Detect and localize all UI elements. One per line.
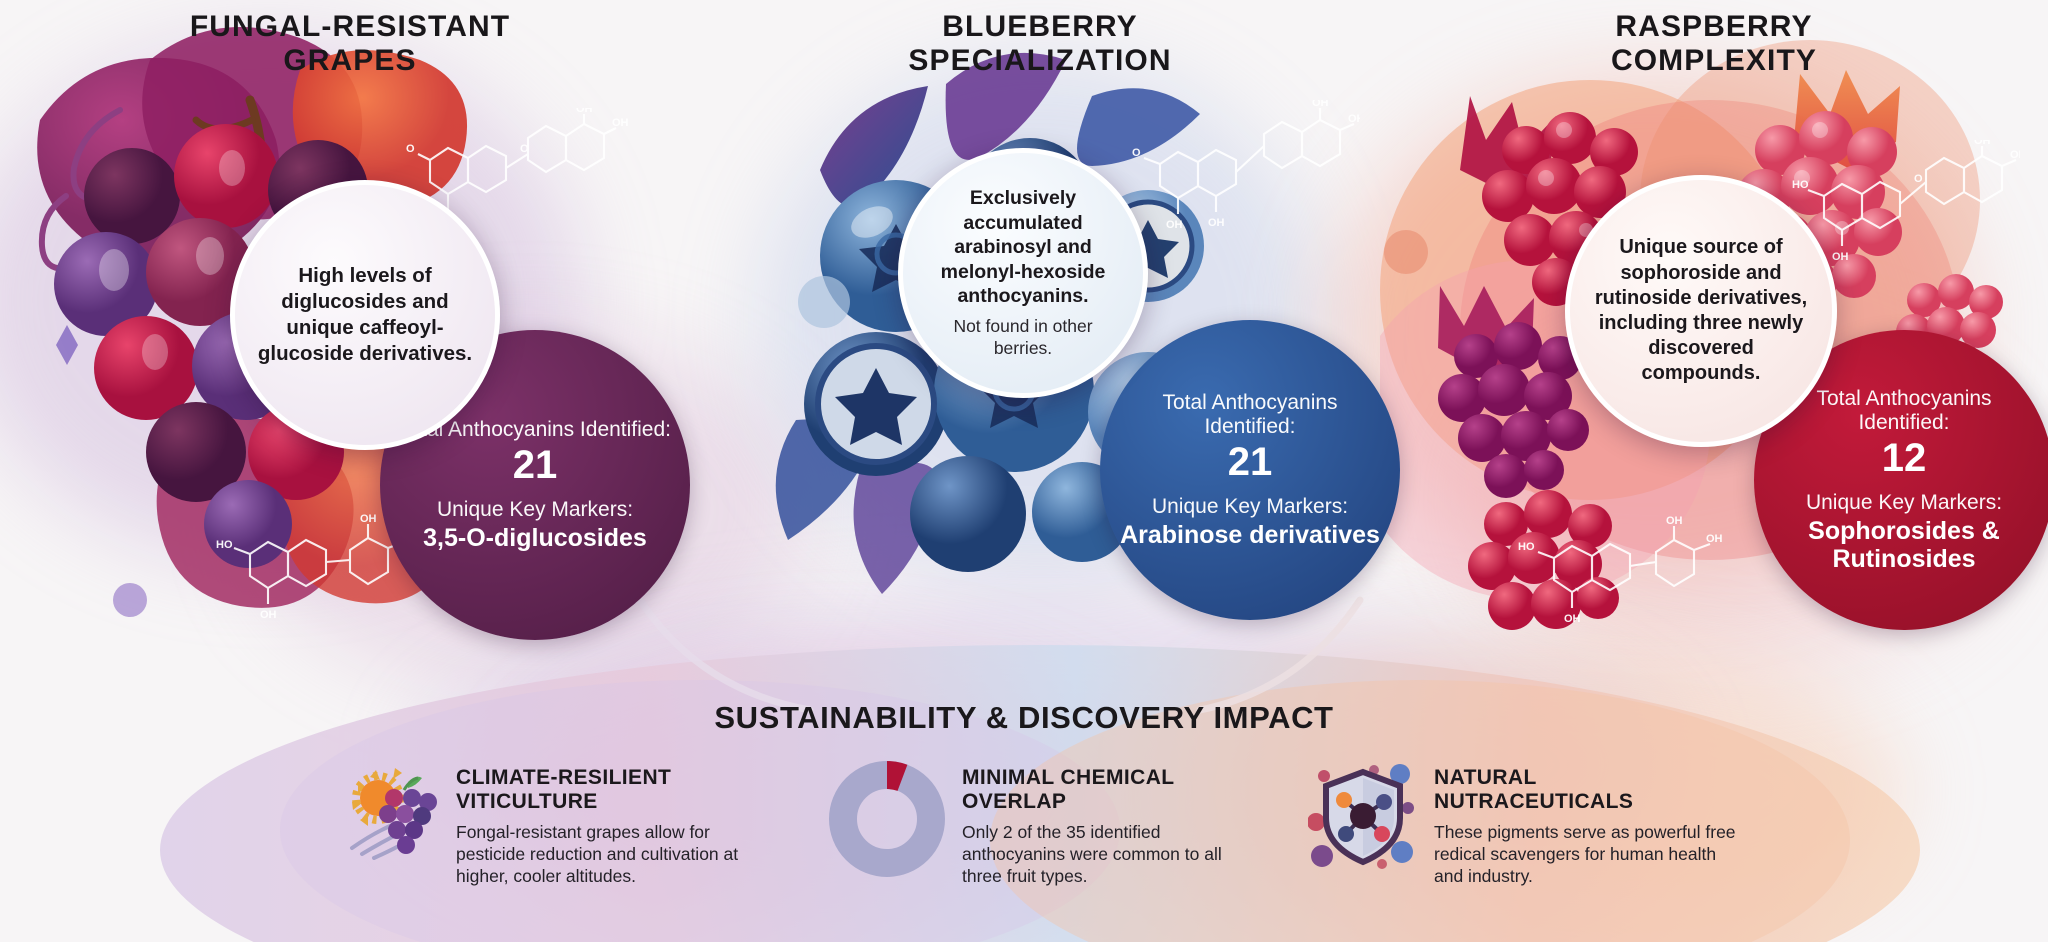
impact-body: Only 2 of the 35 identified anthocyanins… bbox=[962, 821, 1248, 888]
svg-text:OH: OH bbox=[1208, 217, 1225, 229]
impact-item-minimal-chemical-overlap: MINIMAL CHEMICAL OVERLAP Only 2 of the 3… bbox=[828, 760, 1248, 888]
statement-main: Exclusively accumulated arabinosyl and m… bbox=[925, 186, 1121, 309]
impact-heading: NATURAL NUTRACEUTICALS bbox=[1434, 766, 1748, 814]
stat-value: 12 bbox=[1882, 437, 1927, 479]
svg-text:OH: OH bbox=[1706, 533, 1723, 545]
impact-item-natural-nutraceuticals: NATURAL NUTRACEUTICALS These pigments se… bbox=[1308, 760, 1748, 888]
donut-chart-icon bbox=[828, 760, 946, 878]
svg-text:O: O bbox=[1132, 147, 1141, 159]
panel-title-line1: BLUEBERRY bbox=[942, 10, 1137, 43]
svg-text:OH: OH bbox=[1666, 515, 1683, 527]
stat-value: 21 bbox=[1228, 441, 1273, 483]
svg-text:O: O bbox=[406, 143, 415, 155]
svg-text:OH: OH bbox=[1312, 100, 1329, 109]
impact-heading: MINIMAL CHEMICAL OVERLAP bbox=[962, 766, 1248, 814]
impact-list: CLIMATE-RESILIENT VITICULTURE Fongal-res… bbox=[0, 760, 2048, 940]
stat-markers-label: Unique Key Markers: bbox=[437, 498, 633, 522]
impact-heading-line2: NUTRACEUTICALS bbox=[1434, 790, 1633, 813]
svg-text:O: O bbox=[520, 143, 529, 155]
impact-text: NATURAL NUTRACEUTICALS These pigments se… bbox=[1434, 760, 1748, 888]
panel-title-raspberry: RASPBERRY COMPLEXITY bbox=[1380, 10, 2048, 77]
impact-body: Fongal-resistant grapes allow for pestic… bbox=[456, 821, 770, 888]
stat-markers-label: Unique Key Markers: bbox=[1152, 495, 1348, 519]
stat-label: Total Anthocyanins Identified: bbox=[1118, 391, 1382, 440]
impact-heading: CLIMATE-RESILIENT VITICULTURE bbox=[456, 766, 770, 814]
svg-text:OH: OH bbox=[360, 513, 377, 525]
overlap-donut-chart bbox=[828, 760, 946, 878]
statement-main: Unique source of sophoroside and rutinos… bbox=[1592, 235, 1810, 386]
stat-markers-value: Arabinose derivatives bbox=[1120, 521, 1380, 549]
statement-circle-grapes: High levels of diglucosides and unique c… bbox=[230, 180, 500, 450]
svg-text:OH: OH bbox=[1166, 219, 1183, 231]
svg-text:OH: OH bbox=[1348, 113, 1360, 125]
svg-text:OH: OH bbox=[1564, 613, 1581, 625]
stat-markers-label: Unique Key Markers: bbox=[1806, 491, 2002, 515]
svg-text:OH: OH bbox=[260, 609, 277, 621]
sun-grapes-icon bbox=[340, 760, 440, 860]
svg-text:HO: HO bbox=[216, 539, 233, 551]
impact-item-climate-resilient-viticulture: CLIMATE-RESILIENT VITICULTURE Fongal-res… bbox=[340, 760, 770, 888]
panel-title-line1: FUNGAL-RESISTANT bbox=[190, 10, 510, 43]
svg-text:O: O bbox=[1914, 173, 1923, 185]
band-title: SUSTAINABILITY & DISCOVERY IMPACT bbox=[0, 700, 2048, 736]
stat-value: 21 bbox=[513, 444, 558, 486]
shield-molecule-icon bbox=[1308, 760, 1418, 870]
impact-heading-line1: MINIMAL CHEMICAL bbox=[962, 766, 1175, 789]
impact-text: CLIMATE-RESILIENT VITICULTURE Fongal-res… bbox=[456, 760, 770, 888]
panel-title-line2: SPECIALIZATION bbox=[908, 44, 1171, 77]
impact-heading-line1: CLIMATE-RESILIENT bbox=[456, 766, 671, 789]
impact-body: These pigments serve as powerful free re… bbox=[1434, 821, 1748, 888]
statement-circle-blueberry: Exclusively accumulated arabinosyl and m… bbox=[898, 148, 1148, 398]
svg-text:OH: OH bbox=[1974, 140, 1991, 147]
panel-title-grapes: FUNGAL-RESISTANT GRAPES bbox=[0, 10, 700, 77]
stat-markers-value: Sophorosides & Rutinosides bbox=[1772, 517, 2036, 573]
impact-heading-line2: VITICULTURE bbox=[456, 790, 598, 813]
svg-text:HO: HO bbox=[1518, 541, 1535, 553]
stat-markers-value: 3,5-O-diglucosides bbox=[423, 524, 647, 552]
stat-bubble-blueberry: Total Anthocyanins Identified: 21 Unique… bbox=[1100, 320, 1400, 620]
panel-title-line2: COMPLEXITY bbox=[1611, 44, 1817, 77]
svg-text:OH: OH bbox=[612, 117, 629, 129]
statement-sub: Not found in other berries. bbox=[925, 316, 1121, 360]
svg-text:OH: OH bbox=[576, 108, 593, 115]
anthocyanin-molecule-diagram-raspberry: OH HO OH OH O bbox=[1790, 140, 2020, 270]
stat-label: Total Anthocyanins Identified: bbox=[1772, 387, 2036, 436]
svg-text:OH: OH bbox=[1832, 251, 1849, 263]
impact-text: MINIMAL CHEMICAL OVERLAP Only 2 of the 3… bbox=[962, 760, 1248, 888]
impact-heading-line2: OVERLAP bbox=[962, 790, 1066, 813]
panel-title-blueberry: BLUEBERRY SPECIALIZATION bbox=[700, 10, 1380, 77]
svg-text:OH: OH bbox=[2010, 149, 2020, 161]
svg-text:HO: HO bbox=[1792, 179, 1809, 191]
statement-circle-raspberry: Unique source of sophoroside and rutinos… bbox=[1565, 175, 1837, 447]
panel-title-line1: RASPBERRY bbox=[1615, 10, 1812, 43]
anthocyanin-molecule-diagram-raspberry-2: OH HO OH OH bbox=[1510, 510, 1740, 635]
anthocyanin-molecule-diagram-blueberry: OH OH O OH OH bbox=[1130, 100, 1360, 240]
impact-heading-line1: NATURAL bbox=[1434, 766, 1537, 789]
statement-main: High levels of diglucosides and unique c… bbox=[257, 263, 473, 366]
panel-title-line2: GRAPES bbox=[283, 44, 416, 77]
